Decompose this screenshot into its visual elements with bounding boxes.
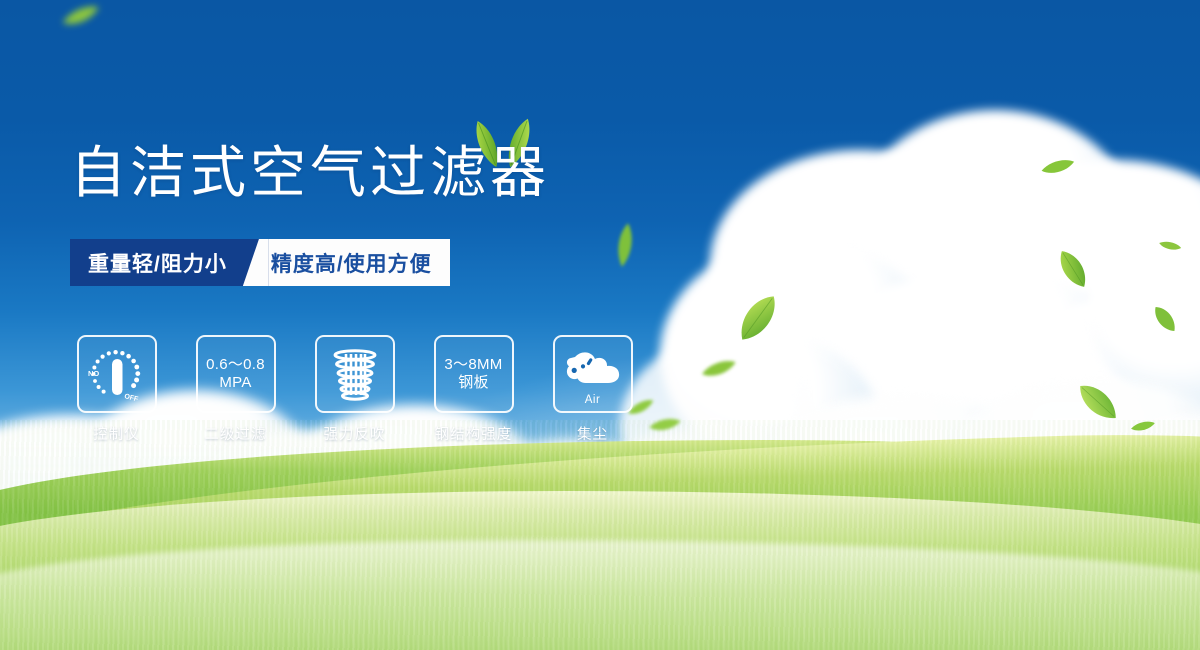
steel-line-1: 3～8MM	[444, 356, 502, 374]
steel-plate-text-icon: 3～8MM 钢板	[444, 356, 502, 393]
subtitle-right: 精度高/使用方便	[269, 239, 450, 286]
feature-list: NO OFF 控制仪 0.6～0.8 MPA 二级过滤	[70, 335, 639, 444]
feature-label: 钢结构强度	[435, 423, 513, 444]
dust-cloud-icon	[562, 347, 624, 393]
svg-text:NO: NO	[88, 369, 99, 378]
gauge-dial-icon: NO OFF	[84, 343, 150, 405]
feature-icon-box: NO OFF	[77, 335, 157, 413]
subtitle-bar: 重量轻/阻力小 精度高/使用方便	[70, 239, 450, 286]
feature-icon-box: 0.6～0.8 MPA	[196, 335, 276, 413]
feature-item-dust[interactable]: Air 集尘	[546, 335, 639, 444]
feature-item-steel[interactable]: 3～8MM 钢板 钢结构强度	[427, 335, 520, 444]
feature-label: 强力反吹	[324, 423, 386, 444]
feature-label: 集尘	[577, 423, 608, 444]
grass-field	[0, 420, 1200, 650]
svg-text:OFF: OFF	[123, 393, 139, 403]
feature-item-backblow[interactable]: 强力反吹	[308, 335, 401, 444]
feature-icon-box	[315, 335, 395, 413]
feature-label: 控制仪	[93, 423, 140, 444]
page-title: 自洁式空气过滤器	[70, 140, 550, 206]
pressure-text-icon: 0.6～0.8 MPA	[206, 356, 265, 393]
steel-line-2: 钢板	[444, 374, 502, 392]
pressure-line-2: MPA	[206, 374, 265, 392]
pressure-line-1: 0.6～0.8	[206, 356, 265, 374]
subtitle-left: 重量轻/阻力小	[70, 239, 243, 286]
feature-item-pressure[interactable]: 0.6～0.8 MPA 二级过滤	[189, 335, 282, 444]
feature-item-controller[interactable]: NO OFF 控制仪	[70, 335, 163, 444]
air-label: Air	[585, 394, 601, 406]
feature-icon-box: 3～8MM 钢板	[434, 335, 514, 413]
feature-icon-box: Air	[553, 335, 633, 413]
subtitle-divider-wedge	[243, 239, 269, 286]
product-banner: 自洁式空气过滤器 重量轻/阻力小 精度高/使用方便	[0, 0, 1200, 650]
pleated-filter-icon	[326, 345, 384, 403]
feature-label: 二级过滤	[205, 423, 267, 444]
